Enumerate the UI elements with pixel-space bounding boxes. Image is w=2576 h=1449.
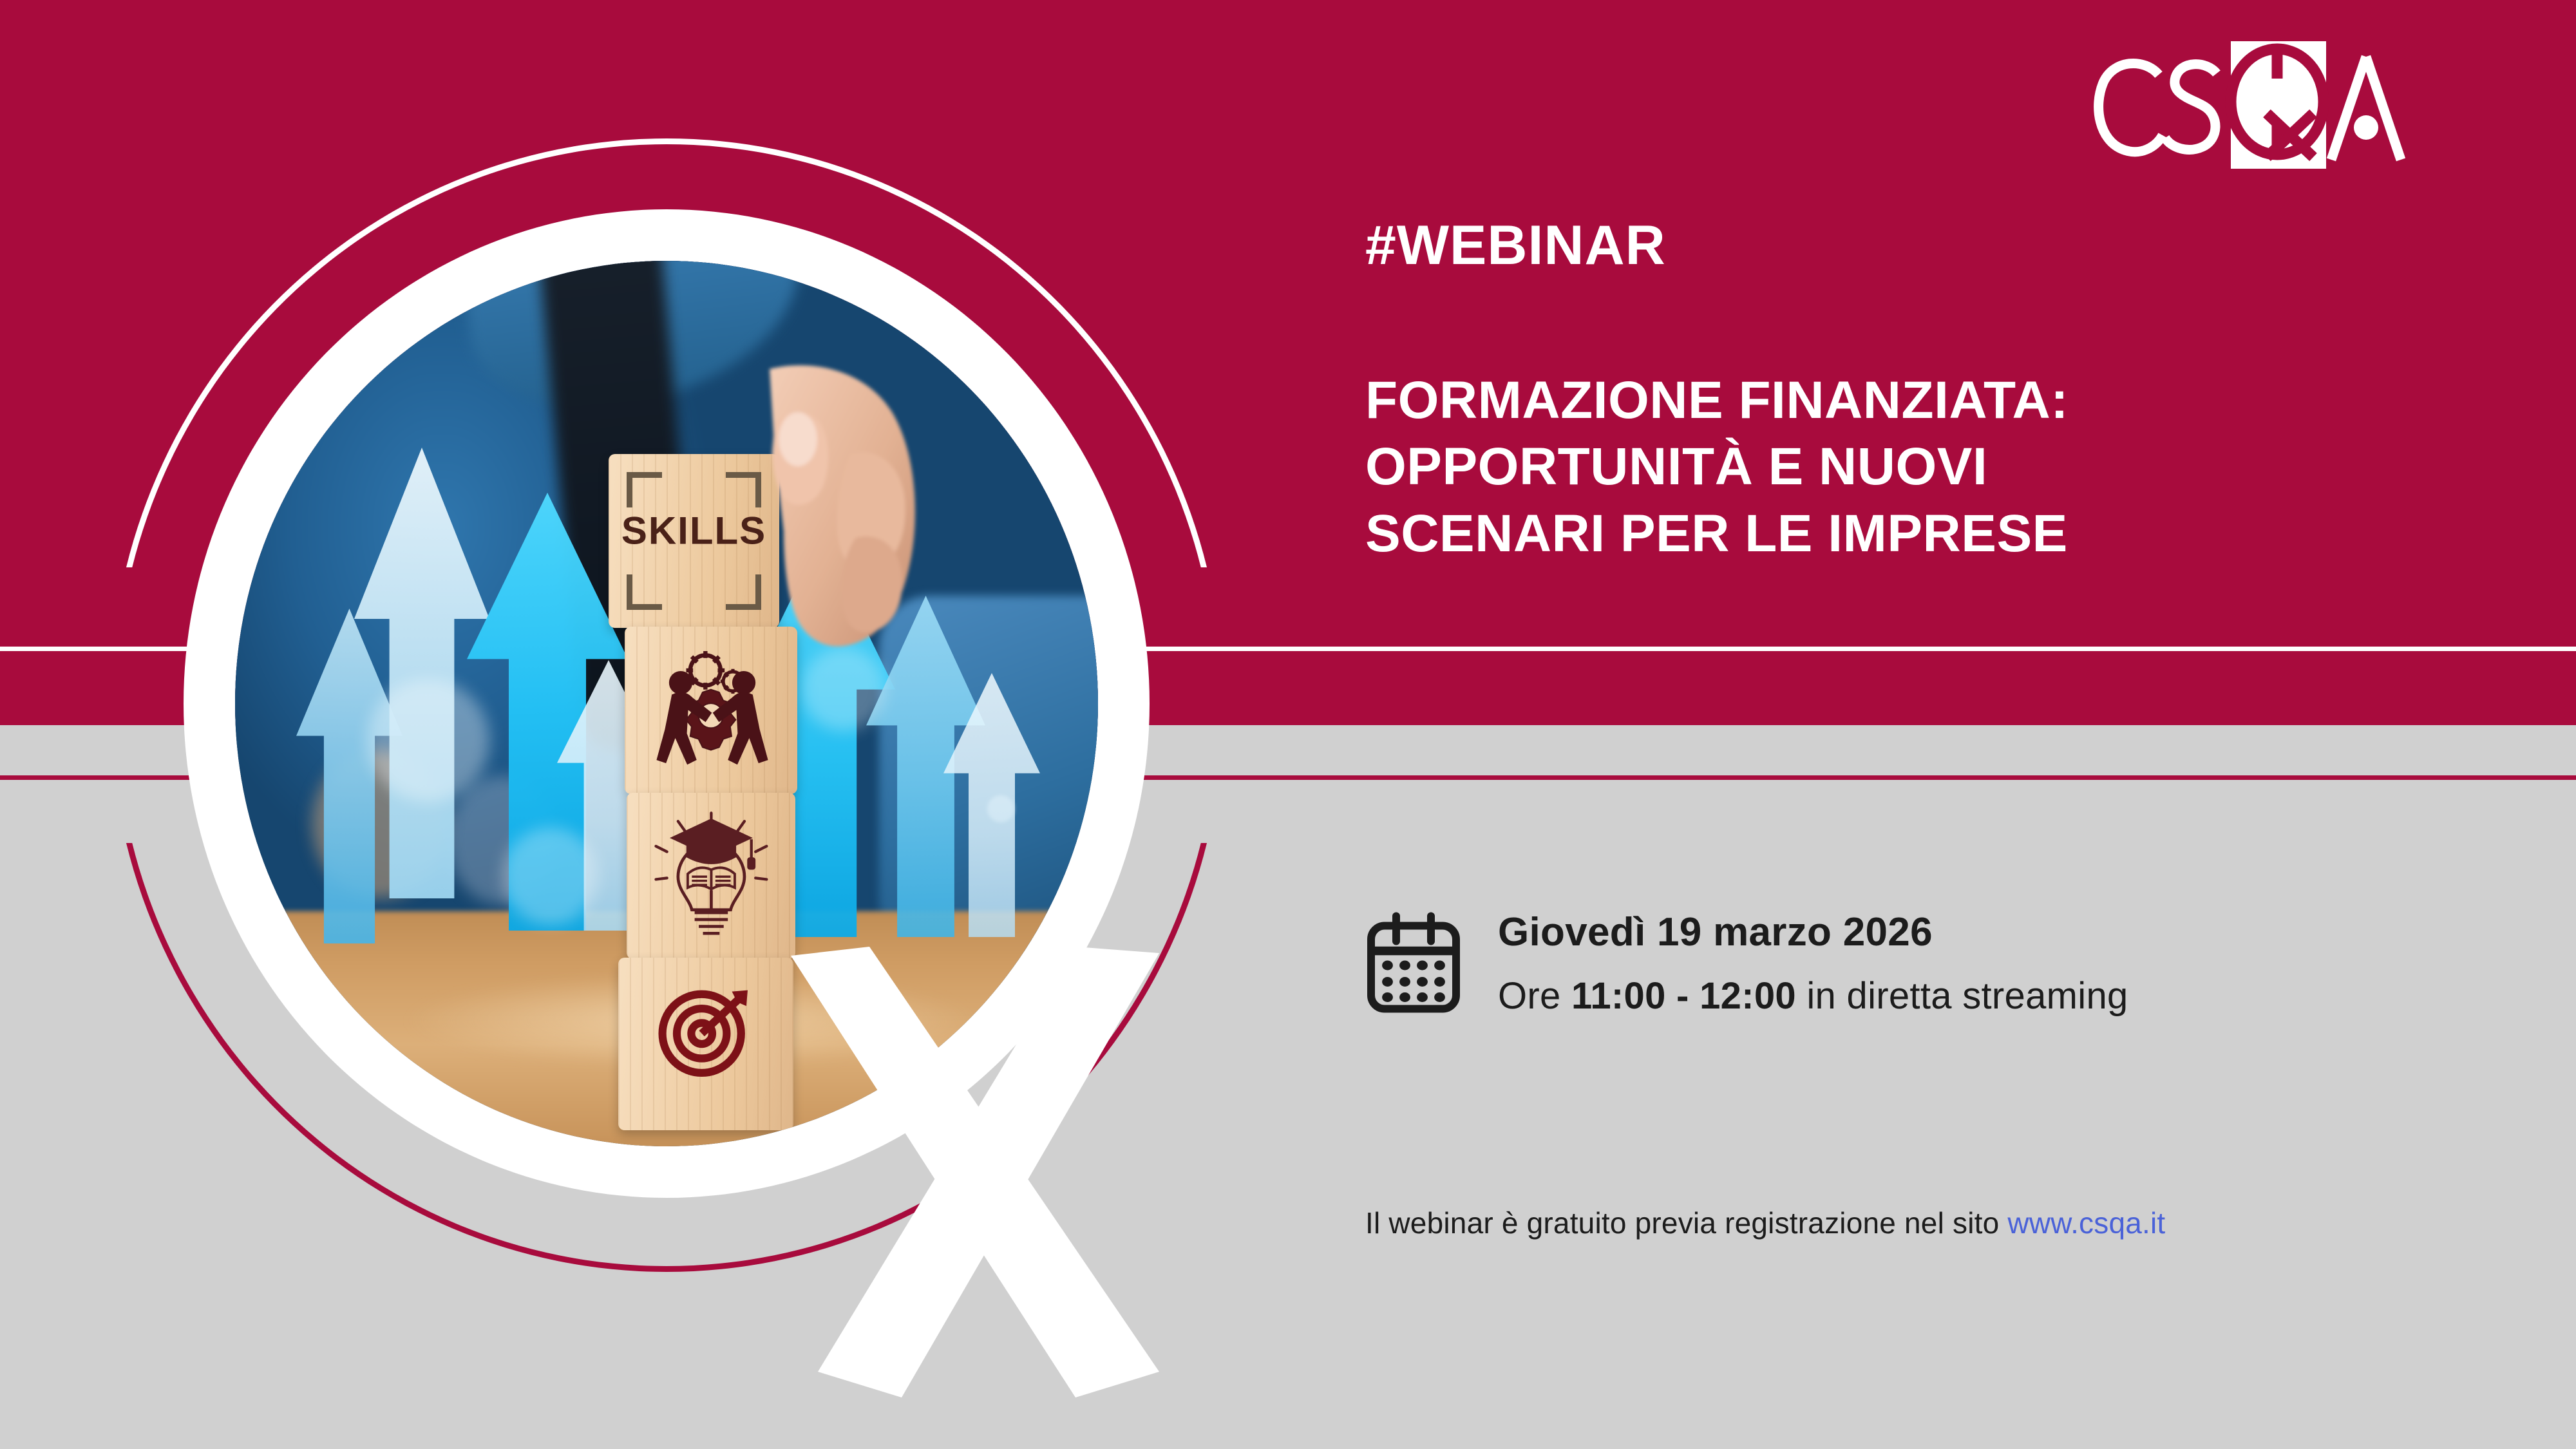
registration-text: Il webinar è gratuito previa registrazio… xyxy=(1365,1206,2007,1240)
registration-note: Il webinar è gratuito previa registrazio… xyxy=(1365,1206,2460,1240)
wooden-block-target xyxy=(618,958,793,1130)
event-date: Giovedì 19 marzo 2026 xyxy=(1498,909,2128,955)
headline-line-3: SCENARI PER LE IMPRESE xyxy=(1365,500,2331,567)
wooden-block-teamwork xyxy=(625,627,797,794)
event-time: Ore 11:00 - 12:00 in diretta streaming xyxy=(1498,974,2128,1018)
headline-line-1: FORMAZIONE FINANZIATA: xyxy=(1365,367,2331,433)
event-datetime: Giovedì 19 marzo 2026 Ore 11:00 - 12:00 … xyxy=(1365,909,2396,1018)
webinar-poster: SKILLS xyxy=(0,0,2576,1449)
event-text: Giovedì 19 marzo 2026 Ore 11:00 - 12:00 … xyxy=(1498,909,2128,1018)
teamwork-gears-icon xyxy=(640,640,782,777)
calendar-icon xyxy=(1365,912,1462,1015)
content-column: #WEBINAR FORMAZIONE FINANZIATA: OPPORTUN… xyxy=(1365,0,2576,1449)
time-prefix: Ore xyxy=(1498,975,1571,1017)
headline-line-2: OPPORTUNITÀ E NUOVI xyxy=(1365,433,2331,500)
webinar-kicker: #WEBINAR xyxy=(1365,214,1666,278)
target-arrow-icon xyxy=(636,968,776,1099)
csqa-logo[interactable] xyxy=(2074,37,2447,173)
wooden-block-education xyxy=(627,793,795,959)
time-suffix: in diretta streaming xyxy=(1796,975,2128,1017)
q-tail-stroke xyxy=(773,947,1172,1397)
csqa-website-link[interactable]: www.csqa.it xyxy=(2007,1206,2165,1240)
time-range: 11:00 - 12:00 xyxy=(1571,975,1796,1017)
graduation-lightbulb-icon xyxy=(642,802,781,945)
page-title: FORMAZIONE FINANZIATA: OPPORTUNITÀ E NUO… xyxy=(1365,367,2331,567)
csqa-q-monogram: SKILLS xyxy=(109,138,1224,1336)
